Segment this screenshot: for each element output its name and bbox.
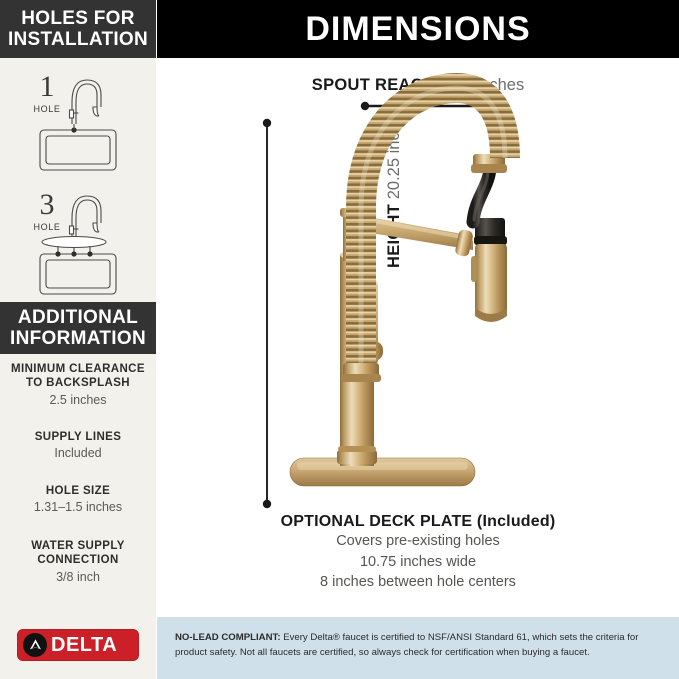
hole-option-1-diagram: 1 HOLE	[0, 62, 156, 177]
sidebar-header-holes-line1: HOLES FOR	[8, 8, 148, 29]
footer-strong-label: NO-LEAD COMPLIANT:	[175, 632, 281, 643]
spec-title-line2: TO BACKSPLASH	[0, 376, 156, 390]
spec-title-line2: CONNECTION	[0, 553, 156, 567]
hole-option-3: 3 HOLE	[0, 180, 156, 298]
faucet-black-hose	[473, 166, 490, 222]
spec-title-line1: MINIMUM CLEARANCE	[0, 362, 156, 376]
caption-heading: OPTIONAL DECK PLATE (Included)	[157, 513, 679, 531]
spec-title-line1: SUPPLY LINES	[0, 430, 156, 444]
hole-option-3-diagram: 3 HOLE	[0, 180, 156, 298]
sidebar-header-additional-line2: INFORMATION	[10, 328, 146, 349]
faucet-sink-3-hole-deckplate-icon	[0, 180, 156, 298]
main-title-bar: DIMENSIONS	[157, 0, 679, 58]
spec-item-minimum-clearance: MINIMUM CLEARANCE TO BACKSPLASH 2.5 inch…	[0, 362, 156, 408]
spec-title-line1: WATER SUPPLY	[0, 539, 156, 553]
deck-plate-caption: OPTIONAL DECK PLATE (Included) Covers pr…	[157, 513, 679, 593]
caption-line-2: 10.75 inches wide	[157, 552, 679, 573]
page-title: DIMENSIONS	[305, 10, 530, 49]
spec-value: 1.31–1.5 inches	[0, 499, 156, 515]
hole-option-1: 1 HOLE	[0, 62, 156, 177]
faucet-sink-1-hole-icon	[0, 62, 156, 177]
caption-line-1: Covers pre-existing holes	[157, 531, 679, 552]
spec-title-line1: HOLE SIZE	[0, 484, 156, 498]
height-dimension-line	[263, 119, 271, 508]
spec-item-hole-size: HOLE SIZE 1.31–1.5 inches	[0, 484, 156, 516]
caption-line-3: 8 inches between hole centers	[157, 572, 679, 593]
spec-item-water-supply-connection: WATER SUPPLY CONNECTION 3/8 inch	[0, 539, 156, 585]
faucet-product-image	[290, 88, 507, 486]
sidebar-header-holes-line2: INSTALLATION	[8, 29, 148, 50]
delta-wordmark: DELTA	[51, 634, 117, 657]
spec-item-supply-lines: SUPPLY LINES Included	[0, 430, 156, 462]
sidebar-header-additional: ADDITIONAL INFORMATION	[0, 302, 156, 354]
deck-plate	[290, 458, 475, 486]
dimensions-spec-sheet: HOLES FOR INSTALLATION 1 HOLE	[0, 0, 679, 679]
sidebar-header-holes: HOLES FOR INSTALLATION	[0, 0, 156, 58]
spec-value: 3/8 inch	[0, 569, 156, 585]
delta-logo: DELTA	[17, 629, 139, 661]
spray-head	[471, 218, 507, 322]
dimension-diagram: SPOUT REACH 9.63 inches HEIGHT 20.25 inc…	[157, 58, 679, 616]
footer-disclaimer: NO-LEAD COMPLIANT: Every Delta® faucet i…	[157, 617, 679, 679]
coil-base-collar	[341, 363, 381, 382]
faucet-illustration	[157, 58, 679, 528]
sidebar: HOLES FOR INSTALLATION 1 HOLE	[0, 0, 156, 679]
sidebar-header-additional-line1: ADDITIONAL	[10, 307, 146, 328]
spec-value: 2.5 inches	[0, 392, 156, 408]
spec-value: Included	[0, 445, 156, 461]
delta-triangle-mark-icon	[23, 633, 47, 657]
